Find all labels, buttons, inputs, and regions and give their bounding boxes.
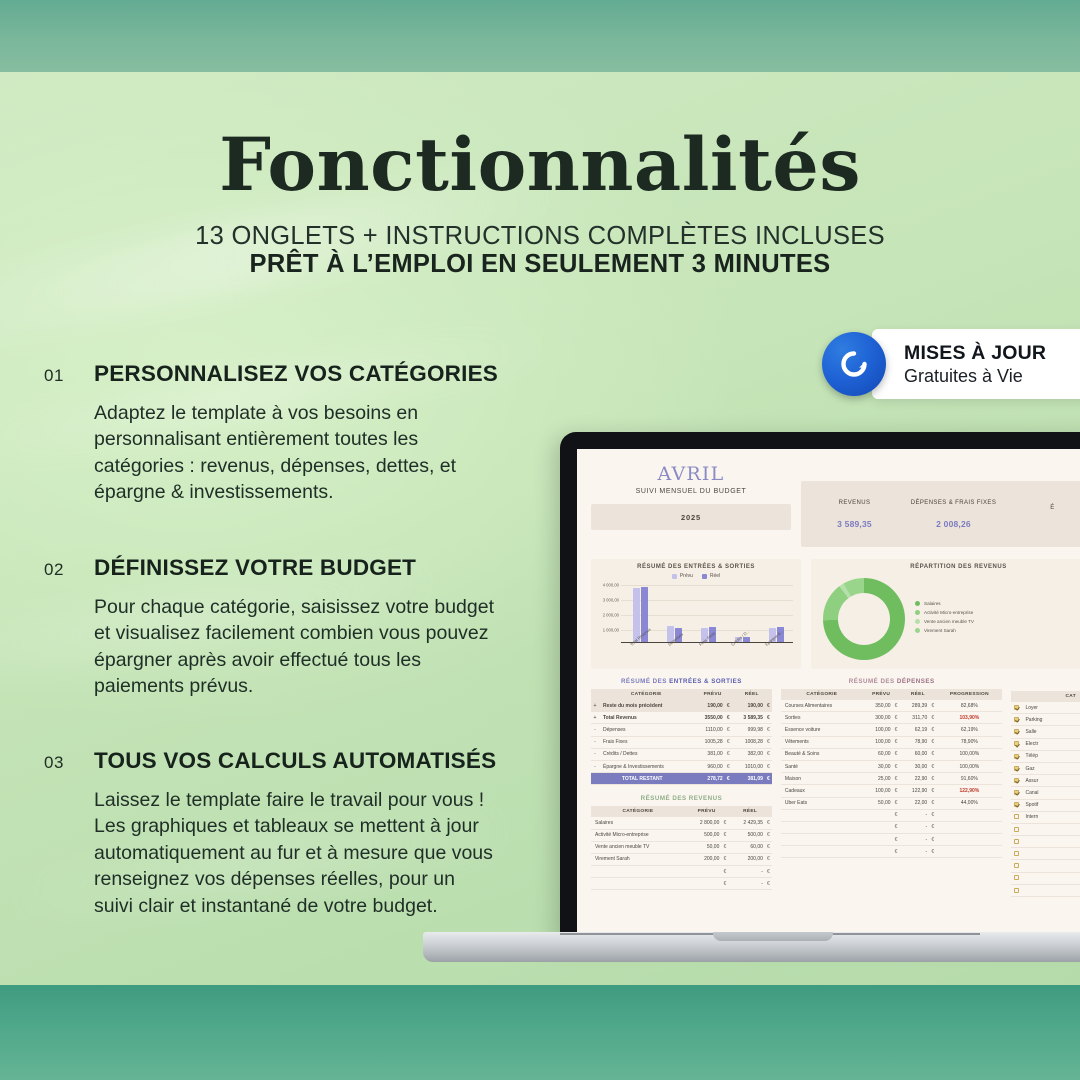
currency-symbol: € (765, 853, 772, 865)
table-row[interactable] (1011, 884, 1080, 896)
table-header-row: CATÉGORIE PRÉVU RÉEL (591, 689, 772, 700)
legend-item: Vente ancien meuble TV (915, 619, 974, 624)
entrees-sorties-block: RÉSUMÉ DES ENTRÉES & SORTIES CATÉGORIE P… (591, 678, 772, 897)
table-row[interactable]: €-€ (781, 834, 1003, 846)
currency-symbol: € (893, 797, 900, 809)
table-row[interactable]: Salle (1011, 726, 1080, 738)
table-row[interactable] (1011, 823, 1080, 835)
feature-heading: DÉFINISSEZ VOTRE BUDGET (94, 556, 544, 581)
row-reel: 1008,28 (732, 736, 765, 748)
feature-item-01: 01 PERSONNALISEZ VOS CATÉGORIES Adaptez … (44, 362, 544, 506)
kpi-value: 3 589,35 (805, 519, 904, 529)
row-reel: - (900, 809, 930, 821)
row-category (1021, 823, 1080, 835)
kpi-label: REVENUS (805, 500, 904, 506)
feature-heading: TOUS VOS CALCULS AUTOMATISÉS (94, 749, 544, 774)
row-progression (936, 846, 1002, 858)
row-reel: - (900, 834, 930, 846)
frais-fixes-block: CAT Loyer Parking Salle Electr Télép Ga (1011, 678, 1080, 897)
table-row[interactable]: Cadeaux100,00€122,90€122,90% (781, 785, 1003, 797)
currency-symbol: € (725, 700, 732, 712)
row-prevu: 1005,28 (694, 736, 725, 748)
row-category: Salaires (591, 817, 685, 829)
row-category: Télép (1021, 750, 1080, 762)
kpi-value: 2 008,26 (904, 519, 1003, 529)
row-reel: 30,00 (900, 760, 930, 772)
row-category: Total Revenus (599, 712, 694, 724)
table-row[interactable]: Canal (1011, 787, 1080, 799)
currency-symbol: € (929, 712, 936, 724)
legend-label: Réel (710, 573, 720, 579)
row-prevu: 190,00 (694, 700, 725, 712)
table-row[interactable]: Beauté & Soins60,00€60,00€100,00% (781, 748, 1003, 760)
row-prevu: 500,00 (685, 829, 721, 841)
budget-spreadsheet: AVRIL SUIVI MENSUEL DU BUDGET 2025 REVEN… (577, 449, 1080, 942)
checkbox-unchecked[interactable] (1014, 888, 1019, 893)
legend-swatch (672, 574, 677, 579)
row-sign: - (591, 760, 599, 772)
table-row[interactable]: Télép (1011, 750, 1080, 762)
laptop-base-notch (713, 932, 833, 941)
row-category: Canal (1021, 787, 1080, 799)
refresh-circle-icon (822, 332, 886, 396)
checkbox-checked[interactable] (1014, 741, 1019, 746)
sheet-month-block: AVRIL SUIVI MENSUEL DU BUDGET 2025 (591, 463, 791, 547)
table-row[interactable]: + Reste du mois précédent 190,00 € 190,0… (591, 700, 772, 712)
currency-symbol: € (765, 878, 772, 890)
table-row[interactable]: €-€ (781, 809, 1003, 821)
row-prevu: 381,00 (694, 748, 725, 760)
currency-symbol: € (929, 834, 936, 846)
row-prevu: 200,00 (685, 853, 721, 865)
table-row[interactable]: Spotif (1011, 799, 1080, 811)
badge-title: MISES À JOUR (904, 342, 1046, 365)
legend-label: Vente ancien meuble TV (924, 619, 974, 624)
row-prevu: 30,00 (863, 760, 893, 772)
row-prevu: 350,00 (863, 700, 893, 712)
currency-symbol: € (721, 841, 728, 853)
checkbox-unchecked[interactable] (1014, 863, 1019, 868)
row-category: Uber Eats (781, 797, 863, 809)
row-prevu (863, 821, 893, 833)
currency-symbol: € (929, 809, 936, 821)
row-progression: 91,60% (936, 773, 1002, 785)
col-header: RÉEL (728, 806, 772, 817)
row-category (781, 809, 863, 821)
currency-symbol: € (893, 748, 900, 760)
y-tick: 2 000,00 (603, 613, 619, 618)
kpi-partial: É (1003, 505, 1080, 524)
currency-symbol: € (765, 724, 772, 736)
table-row[interactable] (1011, 860, 1080, 872)
currency-symbol: € (893, 821, 900, 833)
y-tick: 4 000,00 (603, 583, 619, 588)
bar-chart-title: RÉSUMÉ DES ENTRÉES & SORTIES (597, 564, 795, 570)
row-progression: 100,00% (936, 748, 1002, 760)
row-reel: 3 589,35 (732, 712, 765, 724)
currency-symbol: € (725, 712, 732, 724)
table-row[interactable] (1011, 848, 1080, 860)
updates-badge: MISES À JOUR Gratuites à Vie (872, 329, 1080, 399)
row-progression: 62,19% (936, 724, 1002, 736)
table-row[interactable]: Uber Eats50,00€22,00€44,00% (781, 797, 1003, 809)
row-category: Cadeaux (781, 785, 863, 797)
currency-symbol: € (893, 736, 900, 748)
row-prevu (863, 809, 893, 821)
currency-symbol: € (929, 700, 936, 712)
row-prevu: 960,00 (694, 760, 725, 772)
row-reel: 500,00 (728, 829, 765, 841)
currency-symbol: € (929, 773, 936, 785)
row-sign: - (591, 748, 599, 760)
y-tick: 3 000,00 (603, 598, 619, 603)
currency-symbol: € (765, 773, 772, 785)
col-header: CATÉGORIE (591, 806, 685, 817)
row-sign: + (591, 700, 599, 712)
currency-symbol: € (765, 700, 772, 712)
row-reel: 78,90 (900, 736, 930, 748)
feature-heading: PERSONNALISEZ VOS CATÉGORIES (94, 362, 544, 387)
currency-symbol: € (721, 853, 728, 865)
row-progression (936, 834, 1002, 846)
row-category: Reste du mois précédent (599, 700, 694, 712)
row-category: Activité Micro-entreprise (591, 829, 685, 841)
row-prevu: 50,00 (863, 797, 893, 809)
bar-chart-plot: 4 000,00 3 000,00 2 000,00 1 000,00 (597, 581, 795, 659)
revenus-title: RÉSUMÉ DES REVENUS (591, 795, 772, 802)
title-light: RÉSUMÉ DES (621, 678, 669, 685)
table-header-row: CAT (1011, 691, 1080, 702)
currency-symbol: € (893, 773, 900, 785)
row-reel: 311,70 (900, 712, 930, 724)
year-field[interactable]: 2025 (591, 504, 791, 530)
legend-swatch (915, 610, 920, 615)
laptop-lid: AVRIL SUIVI MENSUEL DU BUDGET 2025 REVEN… (560, 432, 1080, 942)
currency-symbol: € (725, 773, 732, 785)
row-category (591, 866, 685, 878)
row-reel: 2 429,35 (728, 817, 765, 829)
title-light: RÉSUMÉ DES (849, 678, 897, 685)
table-row[interactable]: - Dépenses 1110,00 € 999,98 € (591, 724, 772, 736)
currency-symbol: € (893, 724, 900, 736)
title-bold: DÉPENSES (897, 678, 935, 685)
row-category (781, 846, 863, 858)
col-header: CAT (1021, 691, 1080, 702)
poster-canvas: Fonctionnalités 13 ONGLETS + INSTRUCTION… (0, 0, 1080, 1080)
row-category: Intern (1021, 811, 1080, 823)
table-row[interactable]: Vente ancien meuble TV 50,00 € 60,00 € (591, 841, 772, 853)
table-row[interactable]: €-€ (781, 821, 1003, 833)
currency-symbol: € (765, 760, 772, 772)
checkbox-checked[interactable] (1014, 802, 1019, 807)
table-total-row: TOTAL RESTANT 278,72 € 381,09 € (591, 773, 772, 785)
currency-symbol: € (725, 748, 732, 760)
row-prevu: 100,00 (863, 724, 893, 736)
bar-chart-card: RÉSUMÉ DES ENTRÉES & SORTIES Prévu Réel (591, 559, 801, 669)
currency-symbol: € (725, 724, 732, 736)
row-sign: - (591, 724, 599, 736)
checkbox-unchecked[interactable] (1014, 851, 1019, 856)
legend-item: Virement Sarah (915, 628, 974, 633)
entrees-sorties-title: RÉSUMÉ DES ENTRÉES & SORTIES (591, 678, 772, 685)
row-category: Assur (1021, 775, 1080, 787)
row-category: Vêtements (781, 736, 863, 748)
currency-symbol: € (765, 817, 772, 829)
checkbox-checked[interactable] (1014, 754, 1019, 759)
row-category: Gaz (1021, 762, 1080, 774)
currency-symbol: € (893, 760, 900, 772)
feature-body: Laissez le template faire le travail pou… (94, 787, 494, 920)
feature-number: 03 (44, 753, 84, 773)
col-header: PRÉVU (863, 689, 900, 700)
row-reel: 60,00 (728, 841, 765, 853)
currency-symbol: € (721, 829, 728, 841)
table-row[interactable]: - Crédits / Dettes 381,00 € 382,00 € (591, 748, 772, 760)
laptop-screen: AVRIL SUIVI MENSUEL DU BUDGET 2025 REVEN… (577, 449, 1080, 942)
table-row[interactable]: € - € (591, 878, 772, 890)
frais-fixes-table: CAT Loyer Parking Salle Electr Télép Ga (1011, 691, 1080, 897)
laptop-base (423, 932, 1080, 962)
row-sign: + (591, 712, 599, 724)
y-tick: 1 000,00 (603, 628, 619, 633)
row-progression: 78,90% (936, 736, 1002, 748)
month-subtitle: SUIVI MENSUEL DU BUDGET (591, 488, 791, 495)
row-reel: - (728, 866, 765, 878)
legend-label: Prévu (680, 573, 693, 579)
subtitle-line-2: PRÊT À L’EMPLOI EN SEULEMENT 3 MINUTES (0, 250, 1080, 279)
legend-swatch (915, 619, 920, 624)
checkbox-unchecked[interactable] (1014, 827, 1019, 832)
bar-chart-legend: Prévu Réel (597, 573, 795, 579)
row-category (1021, 848, 1080, 860)
badge-subtitle: Gratuites à Vie (904, 366, 1046, 387)
feature-body: Pour chaque catégorie, saisissez votre b… (94, 594, 494, 700)
feature-item-02: 02 DÉFINISSEZ VOTRE BUDGET Pour chaque c… (44, 556, 544, 700)
legend-swatch (915, 601, 920, 606)
donut-chart-plot: Salaires Activité Micro-entreprise Vente… (817, 570, 1080, 666)
row-prevu (863, 846, 893, 858)
currency-symbol: € (893, 846, 900, 858)
row-reel: 999,98 (732, 724, 765, 736)
checkbox-unchecked[interactable] (1014, 814, 1019, 819)
currency-symbol: € (725, 736, 732, 748)
col-header: PROGRESSION (936, 689, 1002, 700)
table-row[interactable]: - Épargne & Investissements 960,00 € 101… (591, 760, 772, 772)
table-row[interactable]: Santé30,00€30,00€100,00% (781, 760, 1003, 772)
row-category: Beauté & Soins (781, 748, 863, 760)
currency-symbol: € (893, 700, 900, 712)
currency-symbol: € (765, 866, 772, 878)
row-category: Crédits / Dettes (599, 748, 694, 760)
table-row[interactable]: Salaires 2 800,00 € 2 429,35 € (591, 817, 772, 829)
row-progression (936, 821, 1002, 833)
table-row[interactable]: Maison25,00€22,90€91,60% (781, 773, 1003, 785)
charts-row: RÉSUMÉ DES ENTRÉES & SORTIES Prévu Réel (577, 547, 1080, 669)
depenses-table: CATÉGORIE PRÉVU RÉEL PROGRESSION Courses… (781, 689, 1003, 858)
currency-symbol: € (765, 748, 772, 760)
currency-symbol: € (765, 712, 772, 724)
table-row[interactable]: Essence voiture100,00€62,19€62,19% (781, 724, 1003, 736)
row-prevu (685, 866, 721, 878)
currency-symbol: € (721, 878, 728, 890)
table-row[interactable]: Intern (1011, 811, 1080, 823)
currency-symbol: € (929, 760, 936, 772)
table-row[interactable]: Virement Sarah 200,00 € 200,00 € (591, 853, 772, 865)
row-category: Essence voiture (781, 724, 863, 736)
row-category: Vente ancien meuble TV (591, 841, 685, 853)
row-prevu: 2 800,00 (685, 817, 721, 829)
table-row[interactable]: - Frais Fixes 1005,28 € 1008,28 € (591, 736, 772, 748)
row-category: Courses Alimentaires (781, 700, 863, 712)
row-prevu (685, 878, 721, 890)
x-tick-labels: Total Revenus Dépenses Frais Fixes Crédi… (623, 643, 793, 659)
subtitle-line-1: 13 ONGLETS + INSTRUCTIONS COMPLÈTES INCL… (0, 222, 1080, 251)
row-category: Épargne & Investissements (599, 760, 694, 772)
legend-label: Activité Micro-entreprise (924, 610, 973, 615)
table-row[interactable]: Parking (1011, 714, 1080, 726)
row-reel: 200,00 (728, 853, 765, 865)
table-row[interactable] (1011, 836, 1080, 848)
legend-item: Prévu (672, 573, 693, 579)
row-category: Maison (781, 773, 863, 785)
tables-row: RÉSUMÉ DES ENTRÉES & SORTIES CATÉGORIE P… (577, 669, 1080, 897)
row-reel: - (728, 878, 765, 890)
row-category: Santé (781, 760, 863, 772)
kpi-label: É (1003, 505, 1080, 511)
checkbox-checked[interactable] (1014, 766, 1019, 771)
row-sign: - (591, 736, 599, 748)
currency-symbol: € (929, 724, 936, 736)
checkbox-checked[interactable] (1014, 790, 1019, 795)
row-prevu: 100,00 (863, 785, 893, 797)
table-row[interactable]: Activité Micro-entreprise 500,00 € 500,0… (591, 829, 772, 841)
table-row[interactable]: Vêtements100,00€78,90€78,90% (781, 736, 1003, 748)
checkbox-checked[interactable] (1014, 705, 1019, 710)
row-category (1021, 836, 1080, 848)
legend-item: Salaires (915, 601, 974, 606)
feature-item-03: 03 TOUS VOS CALCULS AUTOMATISÉS Laissez … (44, 749, 544, 919)
total-reel: 381,09 (732, 773, 765, 785)
col-header: CATÉGORIE (781, 689, 863, 700)
checkbox-unchecked[interactable] (1014, 839, 1019, 844)
table-row[interactable]: Courses Alimentaires350,00€289,39€82,68% (781, 700, 1003, 712)
row-progression: 82,68% (936, 700, 1002, 712)
row-category: Parking (1021, 714, 1080, 726)
depenses-block: RÉSUMÉ DES DÉPENSES CATÉGORIE PRÉVU RÉEL… (781, 678, 1003, 897)
col-header: PRÉVU (694, 689, 732, 700)
feature-number: 02 (44, 560, 84, 580)
row-category (1021, 872, 1080, 884)
currency-symbol: € (929, 785, 936, 797)
total-prevu: 278,72 (694, 773, 725, 785)
kpi-revenus: REVENUS 3 589,35 (805, 500, 904, 529)
kpi-depenses: DÉPENSES & FRAIS FIXES 2 008,26 (904, 500, 1003, 529)
row-reel: 62,19 (900, 724, 930, 736)
table-row[interactable]: €-€ (781, 846, 1003, 858)
legend-label: Salaires (924, 601, 941, 606)
row-reel: 382,00 (732, 748, 765, 760)
row-reel: 60,00 (900, 748, 930, 760)
table-row[interactable]: Loyer (1011, 702, 1080, 714)
donut-legend: Salaires Activité Micro-entreprise Vente… (915, 601, 974, 637)
row-progression: 122,90% (936, 785, 1002, 797)
row-category: Electr (1021, 738, 1080, 750)
row-reel: 289,39 (900, 700, 930, 712)
currency-symbol: € (929, 821, 936, 833)
feature-number: 01 (44, 366, 84, 386)
row-prevu: 1110,00 (694, 724, 725, 736)
table-row[interactable]: Electr (1011, 738, 1080, 750)
bottom-band (0, 985, 1080, 1080)
currency-symbol: € (929, 797, 936, 809)
legend-swatch (702, 574, 707, 579)
checkbox-checked[interactable] (1014, 717, 1019, 722)
col-header: RÉEL (732, 689, 772, 700)
month-title: AVRIL (591, 463, 791, 485)
row-category: Virement Sarah (591, 853, 685, 865)
feature-body: Adaptez le template à vos besoins en per… (94, 400, 494, 506)
row-reel: 22,90 (900, 773, 930, 785)
table-row[interactable]: + Total Revenus 3550,00 € 3 589,35 € (591, 712, 772, 724)
page-title: Fonctionnalités (0, 122, 1080, 208)
col-header: PRÉVU (685, 806, 728, 817)
currency-symbol: € (765, 829, 772, 841)
donut-chart-card: RÉPARTITION DES REVENUS Salaires Activit… (811, 559, 1080, 669)
checkbox-unchecked[interactable] (1014, 875, 1019, 880)
top-band (0, 0, 1080, 72)
row-prevu: 300,00 (863, 712, 893, 724)
table-row[interactable] (1011, 872, 1080, 884)
checkbox-checked[interactable] (1014, 729, 1019, 734)
row-reel: 190,00 (732, 700, 765, 712)
kpi-panel: REVENUS 3 589,35 DÉPENSES & FRAIS FIXES … (801, 481, 1080, 547)
row-progression: 100,00% (936, 760, 1002, 772)
currency-symbol: € (893, 834, 900, 846)
currency-symbol: € (721, 866, 728, 878)
currency-symbol: € (893, 712, 900, 724)
title-bold: ENTRÉES & SORTIES (669, 678, 742, 685)
frais-fixes-title (1011, 678, 1080, 687)
row-prevu: 3550,00 (694, 712, 725, 724)
table-header-row: CATÉGORIE PRÉVU RÉEL (591, 806, 772, 817)
row-progression: 103,90% (936, 712, 1002, 724)
legend-item: Activité Micro-entreprise (915, 610, 974, 615)
table-row[interactable]: Sorties300,00€311,70€103,90% (781, 712, 1003, 724)
table-row[interactable]: € - € (591, 866, 772, 878)
y-axis: 4 000,00 3 000,00 2 000,00 1 000,00 (597, 581, 621, 643)
currency-symbol: € (929, 846, 936, 858)
checkbox-checked[interactable] (1014, 778, 1019, 783)
row-category (1021, 884, 1080, 896)
legend-item: Réel (702, 573, 720, 579)
row-category: Salle (1021, 726, 1080, 738)
depenses-body: Courses Alimentaires350,00€289,39€82,68%… (781, 700, 1003, 858)
row-category (781, 821, 863, 833)
table-row[interactable]: Gaz (1011, 762, 1080, 774)
total-label: TOTAL RESTANT (591, 773, 694, 785)
col-header: RÉEL (900, 689, 937, 700)
sheet-header: AVRIL SUIVI MENSUEL DU BUDGET 2025 REVEN… (577, 463, 1080, 547)
row-reel: 22,00 (900, 797, 930, 809)
depenses-title: RÉSUMÉ DES DÉPENSES (781, 678, 1003, 685)
col-header: CATÉGORIE (599, 689, 694, 700)
row-prevu (863, 834, 893, 846)
legend-label: Virement Sarah (924, 628, 956, 633)
table-row[interactable]: Assur (1011, 775, 1080, 787)
row-reel: 1010,00 (732, 760, 765, 772)
row-category (1021, 860, 1080, 872)
row-prevu: 25,00 (863, 773, 893, 785)
